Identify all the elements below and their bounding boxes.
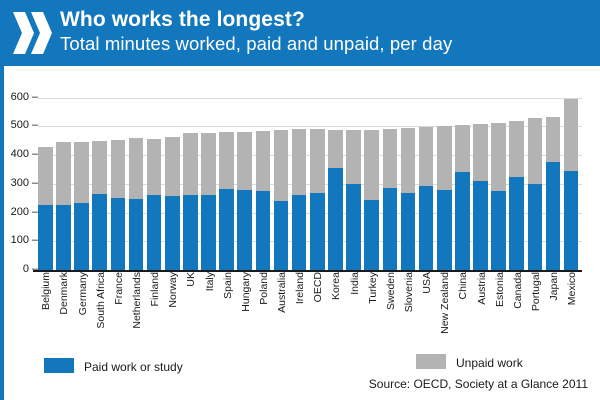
bar-sweden[interactable]	[383, 129, 398, 270]
bar-segment-paid	[437, 190, 452, 270]
bar-segment-unpaid	[111, 140, 126, 198]
x-axis-label-australia: Australia	[275, 272, 289, 313]
x-axis-label-spain: Spain	[221, 272, 235, 299]
legend-label-unpaid: Unpaid work	[456, 356, 523, 370]
legend-swatch-unpaid	[416, 354, 446, 369]
x-axis-labels: BelgiumDenmarkGermanySouth AfricaFranceN…	[38, 272, 582, 352]
bar-segment-paid	[509, 177, 524, 270]
x-axis-label-finland: Finland	[148, 272, 162, 306]
bar-australia[interactable]	[274, 130, 289, 270]
x-axis-label-netherlands: Netherlands	[130, 272, 144, 329]
x-axis-label-new-zealand: New Zealand	[438, 272, 452, 334]
bar-segment-paid	[364, 200, 379, 270]
bar-segment-paid	[564, 171, 579, 270]
bar-segment-unpaid	[147, 139, 162, 195]
bar-segment-paid	[346, 184, 361, 270]
bar-segment-paid	[74, 203, 89, 270]
bar-segment-paid	[383, 188, 398, 270]
bar-segment-unpaid	[528, 118, 543, 184]
x-axis-label-poland: Poland	[257, 272, 271, 305]
bar-segment-paid	[219, 189, 234, 270]
bar-segment-unpaid	[129, 138, 144, 199]
bar-segment-unpaid	[564, 99, 579, 170]
bar-segment-paid	[491, 191, 506, 270]
bar-segment-unpaid	[237, 132, 252, 191]
x-axis-label-usa: USA	[420, 272, 434, 294]
x-axis-label-china: China	[456, 272, 470, 299]
x-axis-label-italy: Italy	[203, 272, 217, 291]
bar-segment-unpaid	[92, 141, 107, 194]
bar-segment-paid	[165, 196, 180, 270]
bar-south-africa[interactable]	[92, 141, 107, 270]
bar-norway[interactable]	[165, 137, 180, 271]
bar-segment-unpaid	[274, 130, 289, 201]
bar-segment-paid	[237, 190, 252, 270]
x-axis-label-south-africa: South Africa	[94, 272, 108, 329]
bar-new-zealand[interactable]	[437, 126, 452, 270]
x-axis-label-portugal: Portugal	[529, 272, 543, 311]
bar-denmark[interactable]	[56, 142, 71, 270]
bar-segment-paid	[310, 193, 325, 270]
bar-japan[interactable]	[546, 117, 561, 270]
bar-segment-unpaid	[455, 125, 470, 172]
bar-segment-paid	[92, 194, 107, 270]
x-axis-label-norway: Norway	[166, 272, 180, 308]
x-axis-label-india: India	[348, 272, 362, 295]
x-axis-label-hungary: Hungary	[239, 272, 253, 312]
bar-segment-unpaid	[346, 130, 361, 185]
bar-segment-paid	[473, 181, 488, 270]
x-axis-label-turkey: Turkey	[366, 272, 380, 304]
bar-segment-paid	[419, 186, 434, 270]
bar-spain[interactable]	[219, 132, 234, 270]
y-axis-tick-300: 300–	[4, 177, 38, 189]
y-axis-tick-200: 200–	[4, 206, 38, 218]
bar-ireland[interactable]	[292, 129, 307, 270]
bar-series-group	[38, 0, 582, 270]
bar-segment-unpaid	[256, 131, 271, 191]
bar-usa[interactable]	[419, 127, 434, 270]
bar-china[interactable]	[455, 125, 470, 270]
bar-segment-unpaid	[38, 147, 53, 205]
legend-label-paid: Paid work or study	[84, 360, 183, 374]
source-note: Source: OECD, Society at a Glance 2011	[369, 377, 588, 391]
x-axis-label-canada: Canada	[511, 272, 525, 309]
x-axis-label-ireland: Ireland	[293, 272, 307, 304]
x-axis-label-germany: Germany	[76, 272, 90, 315]
bar-segment-unpaid	[183, 133, 198, 195]
bar-segment-unpaid	[310, 129, 325, 194]
bar-segment-unpaid	[383, 129, 398, 188]
bar-segment-paid	[129, 199, 144, 270]
bar-segment-unpaid	[201, 133, 216, 195]
bar-slovenia[interactable]	[401, 128, 416, 270]
x-axis-label-japan: Japan	[547, 272, 561, 301]
bar-canada[interactable]	[509, 121, 524, 270]
bar-segment-unpaid	[509, 121, 524, 176]
bar-segment-paid	[256, 191, 271, 270]
bar-segment-unpaid	[56, 142, 71, 205]
bar-segment-paid	[201, 195, 216, 270]
bar-turkey[interactable]	[364, 130, 379, 270]
x-axis-label-sweden: Sweden	[384, 272, 398, 310]
bar-segment-unpaid	[546, 117, 561, 162]
x-axis-label-estonia: Estonia	[493, 272, 507, 307]
bar-segment-unpaid	[437, 126, 452, 190]
bar-netherlands[interactable]	[129, 138, 144, 270]
bar-segment-paid	[183, 195, 198, 270]
bar-segment-paid	[147, 195, 162, 270]
x-axis-label-belgium: Belgium	[39, 272, 53, 310]
bar-segment-paid	[292, 195, 307, 270]
infographic-frame: Who works the longest? Total minutes wor…	[0, 0, 600, 400]
bar-segment-paid	[38, 205, 53, 270]
bar-france[interactable]	[111, 140, 126, 270]
x-axis-label-oecd: OECD	[311, 272, 325, 302]
bar-germany[interactable]	[74, 142, 89, 270]
bar-finland[interactable]	[147, 139, 162, 270]
bar-segment-paid	[455, 172, 470, 270]
y-axis-tick-400: 400–	[4, 148, 38, 160]
bar-segment-unpaid	[74, 142, 89, 204]
x-axis-label-korea: Korea	[329, 272, 343, 300]
x-axis-label-uk: UK	[184, 272, 198, 287]
bar-segment-unpaid	[419, 127, 434, 186]
bar-segment-paid	[111, 198, 126, 270]
bar-segment-unpaid	[328, 130, 343, 168]
bar-poland[interactable]	[256, 131, 271, 270]
bar-segment-paid	[528, 184, 543, 270]
bar-korea[interactable]	[328, 130, 343, 270]
bar-segment-unpaid	[473, 124, 488, 181]
bar-india[interactable]	[346, 130, 361, 270]
x-axis-label-mexico: Mexico	[565, 272, 579, 305]
y-axis-tick-600: 600–	[4, 91, 38, 103]
y-axis-tick-0: 0–	[4, 263, 38, 275]
bar-segment-paid	[401, 193, 416, 270]
bar-italy[interactable]	[201, 133, 216, 270]
bar-uk[interactable]	[183, 133, 198, 270]
bar-mexico[interactable]	[564, 99, 579, 270]
bar-segment-unpaid	[491, 123, 506, 191]
bar-hungary[interactable]	[237, 132, 252, 270]
y-axis-tick-100: 100–	[4, 234, 38, 246]
bar-austria[interactable]	[473, 124, 488, 270]
bar-segment-paid	[328, 168, 343, 270]
bar-segment-paid	[56, 205, 71, 270]
x-axis-label-austria: Austria	[475, 272, 489, 305]
x-axis-label-slovenia: Slovenia	[402, 272, 416, 312]
bar-segment-unpaid	[364, 130, 379, 201]
bar-portugal[interactable]	[528, 118, 543, 270]
bar-belgium[interactable]	[38, 147, 53, 270]
bar-segment-paid	[274, 201, 289, 270]
bar-segment-unpaid	[165, 137, 180, 196]
bar-segment-unpaid	[219, 132, 234, 189]
legend-swatch-paid	[44, 358, 74, 373]
bar-estonia[interactable]	[491, 123, 506, 270]
bar-segment-paid	[546, 162, 561, 270]
y-axis-tick-500: 500–	[4, 119, 38, 131]
bar-segment-unpaid	[292, 129, 307, 195]
bar-segment-unpaid	[401, 128, 416, 194]
x-axis-label-france: France	[112, 272, 126, 305]
x-axis-label-denmark: Denmark	[57, 272, 71, 315]
bar-oecd[interactable]	[310, 129, 325, 270]
